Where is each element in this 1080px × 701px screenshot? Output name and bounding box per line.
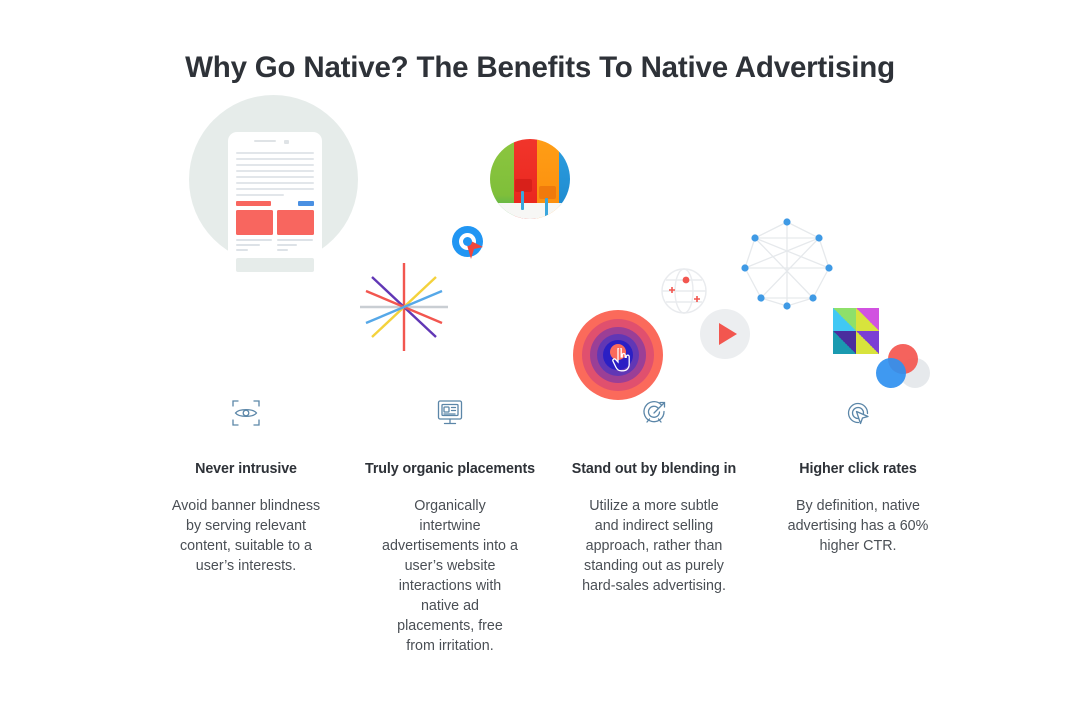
benefit-body: Avoid banner blindness by serving releva… <box>170 496 322 576</box>
benefit-title: Never intrusive <box>195 461 297 477</box>
benefits-row: Never intrusive Avoid banner blindness b… <box>0 396 1080 656</box>
tablet-red-bar <box>236 201 271 206</box>
benefit-column-truly-organic-placements: Truly organic placements Organically int… <box>348 396 552 656</box>
tablet-ad-block <box>236 210 273 235</box>
globe-grid-icon <box>657 264 711 318</box>
tablet-blue-tag <box>298 201 314 206</box>
tablet-topbar <box>254 139 294 143</box>
venn-circles-icon <box>876 344 932 390</box>
target-arrow-icon <box>637 396 671 430</box>
tablet-screen <box>236 152 314 255</box>
benefit-column-stand-out-by-blending-in: Stand out by blending in Utilize a more … <box>552 396 756 656</box>
benefit-column-higher-click-rates: Higher click rates By definition, native… <box>756 396 960 656</box>
benefit-title: Truly organic placements <box>365 461 535 477</box>
illustration-cluster <box>0 86 1080 376</box>
benefit-body: Organically intertwine advertisements in… <box>382 496 518 656</box>
eye-scan-icon <box>229 396 263 430</box>
monitor-content-icon <box>433 396 467 430</box>
benefit-column-never-intrusive: Never intrusive Avoid banner blindness b… <box>144 396 348 656</box>
tablet-footer-bar <box>236 258 314 272</box>
page-title: Why Go Native? The Benefits To Native Ad… <box>0 51 1080 85</box>
benefit-title: Higher click rates <box>799 461 916 477</box>
starburst-lines-icon <box>358 261 450 353</box>
benefit-body: By definition, native advertising has a … <box>782 496 934 556</box>
benefit-body: Utilize a more subtle and indirect selli… <box>578 496 730 596</box>
benefit-title: Stand out by blending in <box>572 461 736 477</box>
ripple-hand-pointer <box>573 310 663 400</box>
paint-roller-photo <box>490 139 570 219</box>
click-cursor-icon <box>841 396 875 430</box>
network-graph-icon <box>741 218 833 310</box>
hand-pointer-icon <box>611 348 631 372</box>
play-button-icon[interactable] <box>700 309 750 359</box>
tablet-mockup <box>228 132 322 276</box>
tablet-ad-block <box>277 210 314 235</box>
color-grid-icon <box>833 308 879 354</box>
